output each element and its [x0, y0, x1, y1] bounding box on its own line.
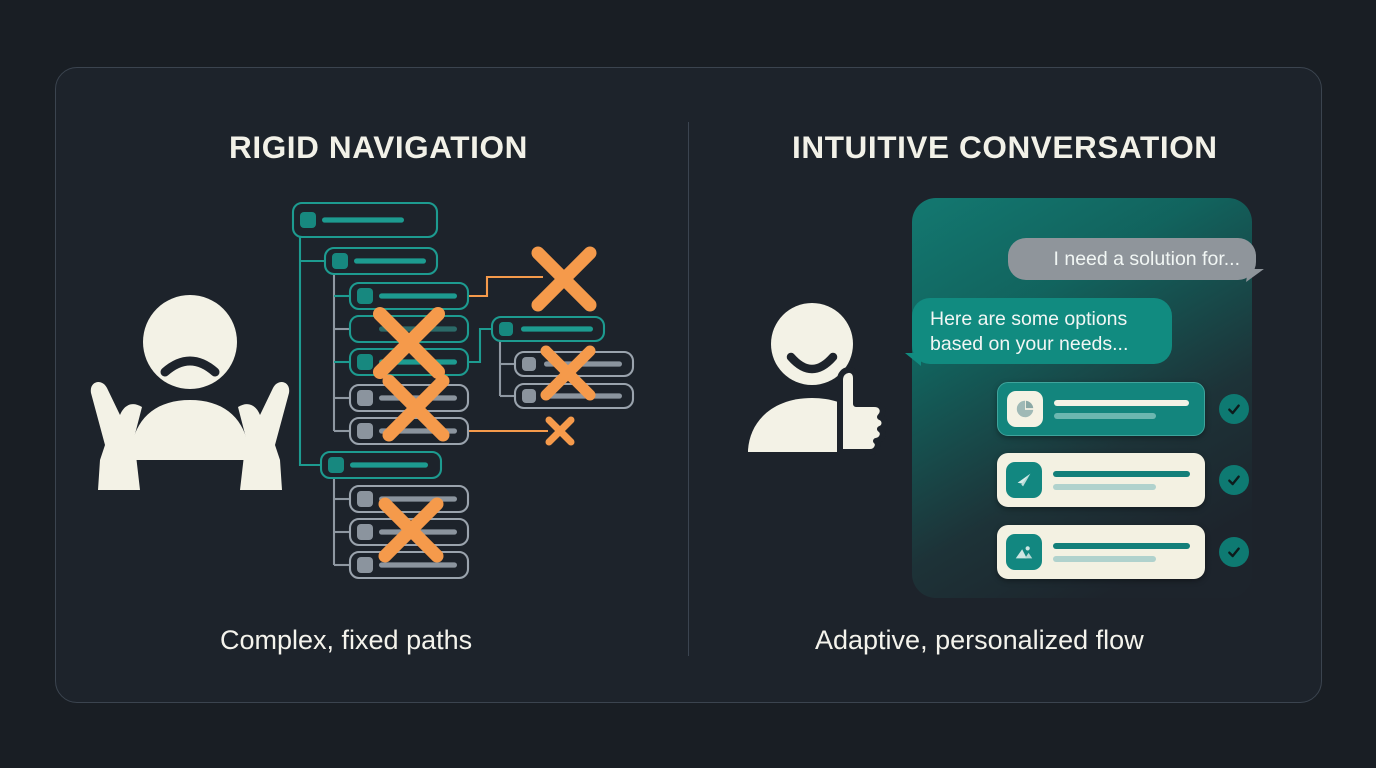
paper-plane-glyph — [1013, 469, 1035, 491]
bubble-tail-icon — [1246, 269, 1264, 282]
text-line — [1053, 484, 1156, 490]
chat-bubble-user-text: I need a solution for... — [1054, 248, 1240, 270]
check-icon — [1226, 544, 1242, 560]
option-check-1[interactable] — [1219, 394, 1249, 424]
chat-bubble-assistant: Here are some options based on your need… — [912, 298, 1172, 364]
image-glyph — [1013, 541, 1035, 563]
comparison-infographic: RIGID NAVIGATION INTUITIVE CONVERSATION — [0, 0, 1376, 768]
right-column-caption: Adaptive, personalized flow — [815, 625, 1144, 656]
option-row[interactable] — [997, 453, 1249, 507]
pie-chart-icon — [1007, 391, 1043, 427]
text-line — [1053, 471, 1190, 477]
check-icon — [1226, 472, 1242, 488]
image-icon — [1006, 534, 1042, 570]
left-column-caption: Complex, fixed paths — [220, 625, 472, 656]
column-divider — [688, 122, 689, 656]
check-icon — [1226, 401, 1242, 417]
text-line — [1053, 543, 1190, 549]
option-card-1[interactable] — [997, 382, 1205, 436]
chat-bubble-assistant-text: Here are some options based on your need… — [930, 308, 1128, 355]
option-check-3[interactable] — [1219, 537, 1249, 567]
option-check-2[interactable] — [1219, 465, 1249, 495]
option-text-lines — [1054, 400, 1195, 419]
option-text-lines — [1053, 471, 1196, 490]
left-column-heading: RIGID NAVIGATION — [229, 129, 528, 166]
option-row[interactable] — [997, 525, 1249, 579]
right-column-heading: INTUITIVE CONVERSATION — [792, 129, 1218, 166]
option-card-2[interactable] — [997, 453, 1205, 507]
text-line — [1053, 556, 1156, 562]
text-line — [1054, 400, 1189, 406]
chat-bubble-user: I need a solution for... — [1008, 238, 1256, 280]
bubble-tail-icon — [905, 353, 921, 366]
option-text-lines — [1053, 543, 1196, 562]
paper-plane-icon — [1006, 462, 1042, 498]
option-row[interactable] — [997, 382, 1249, 436]
option-card-3[interactable] — [997, 525, 1205, 579]
text-line — [1054, 413, 1156, 419]
